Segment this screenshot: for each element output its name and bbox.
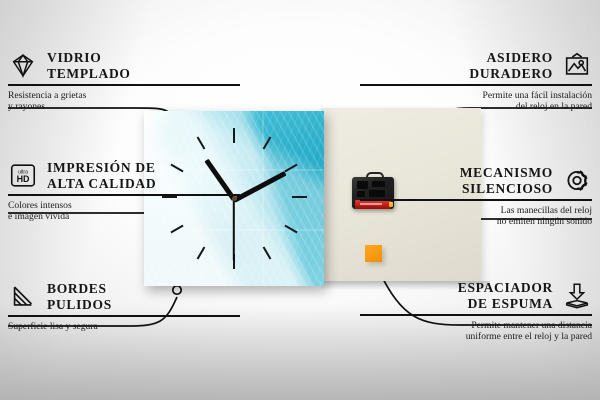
feature-description: Superficie lisa y segura (8, 321, 240, 332)
foam-spacer-pad (365, 245, 382, 262)
feature-divider (8, 194, 240, 196)
diamond-icon (8, 52, 38, 79)
feature-title: IMPRESIÓN DE ALTA CALIDAD (47, 160, 156, 191)
feature-divider (360, 314, 592, 316)
feature-title: ASIDERO DURADERO (469, 50, 553, 81)
foam-spacer-icon (562, 282, 592, 309)
feature-foam-spacer: ESPACIADOR DE ESPUMA Permite mantener un… (360, 280, 592, 342)
infographic-canvas: VIDRIO TEMPLADO Resistencia a grietas y … (0, 0, 600, 400)
feature-divider (360, 84, 592, 86)
feature-title: ESPACIADOR DE ESPUMA (458, 280, 553, 311)
feature-title: VIDRIO TEMPLADO (47, 50, 131, 81)
feature-durable-hanger: ASIDERO DURADERO Permite una fácil insta… (360, 50, 592, 112)
feature-divider (8, 315, 240, 317)
polished-edge-icon (8, 283, 38, 310)
feature-high-quality-print: ultra HD IMPRESIÓN DE ALTA CALIDAD Color… (8, 160, 240, 222)
feature-tempered-glass: VIDRIO TEMPLADO Resistencia a grietas y … (8, 50, 240, 112)
feature-divider (8, 84, 240, 86)
feature-description: Resistencia a grietas y rayones (8, 90, 240, 113)
svg-text:HD: HD (17, 174, 30, 184)
feature-description: Permite una fácil instalación del reloj … (360, 90, 592, 113)
ultra-hd-icon: ultra HD (8, 162, 38, 189)
feature-description: Permite mantener una distancia uniforme … (360, 320, 592, 343)
feature-description: Las manecillas del reloj no emiten ningú… (360, 205, 592, 228)
feature-divider (360, 199, 592, 201)
feature-silent-mechanism: MECANISMO SILENCIOSO Las manecillas del … (360, 165, 592, 227)
feature-polished-edges: BORDES PULIDOS Superficie lisa y segura (8, 281, 240, 332)
gear-icon (562, 167, 592, 194)
feature-title: BORDES PULIDOS (47, 281, 112, 312)
feature-description: Colores intensos e imagen vívida (8, 200, 240, 223)
feature-title: MECANISMO SILENCIOSO (460, 165, 553, 196)
picture-hanger-icon (562, 52, 592, 79)
clock-minute-hand (233, 171, 286, 202)
